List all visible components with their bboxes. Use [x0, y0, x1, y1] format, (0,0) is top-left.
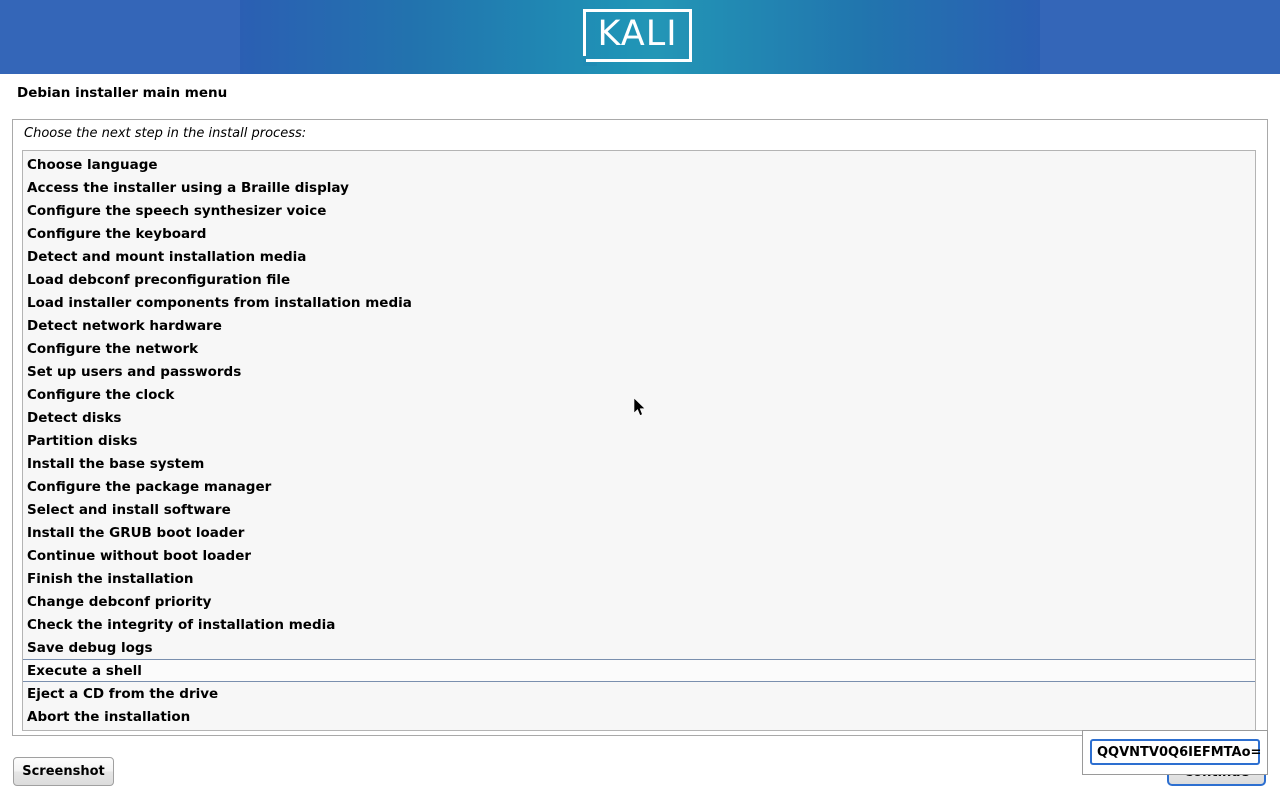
menu-item[interactable]: Continue without boot loader	[23, 544, 1255, 567]
menu-item[interactable]: Eject a CD from the drive	[23, 682, 1255, 705]
menu-item[interactable]: Install the base system	[23, 452, 1255, 475]
text-entry-field[interactable]: QQVNTV0Q6IEFMTAo=	[1090, 739, 1260, 765]
menu-item[interactable]: Install the GRUB boot loader	[23, 521, 1255, 544]
kali-logo: KALI	[583, 9, 696, 66]
menu-item[interactable]: Change debconf priority	[23, 590, 1255, 613]
menu-item[interactable]: Finish the installation	[23, 567, 1255, 590]
menu-item[interactable]: Configure the keyboard	[23, 222, 1255, 245]
page-title: Debian installer main menu	[17, 85, 227, 101]
installer-screen: KALI Debian installer main menu Choose t…	[0, 0, 1280, 800]
menu-item[interactable]: Partition disks	[23, 429, 1255, 452]
prompt-text: Choose the next step in the install proc…	[24, 126, 306, 141]
menu-item[interactable]: Save debug logs	[23, 636, 1255, 659]
menu-item[interactable]: Check the integrity of installation medi…	[23, 613, 1255, 636]
menu-list: Choose languageAccess the installer usin…	[23, 153, 1255, 728]
kali-logo-text: KALI	[583, 9, 692, 62]
menu-item[interactable]: Select and install software	[23, 498, 1255, 521]
menu-item[interactable]: Abort the installation	[23, 705, 1255, 728]
menu-item[interactable]: Load debconf preconfiguration file	[23, 268, 1255, 291]
menu-item[interactable]: Set up users and passwords	[23, 360, 1255, 383]
menu-item[interactable]: Detect disks	[23, 406, 1255, 429]
menu-item[interactable]: Configure the network	[23, 337, 1255, 360]
menu-item[interactable]: Configure the package manager	[23, 475, 1255, 498]
menu-item[interactable]: Configure the clock	[23, 383, 1255, 406]
menu-item[interactable]: Detect network hardware	[23, 314, 1255, 337]
text-entry-overlay: QQVNTV0Q6IEFMTAo=	[1082, 730, 1268, 775]
kali-banner: KALI	[0, 0, 1280, 74]
text-entry-value: QQVNTV0Q6IEFMTAo=	[1097, 745, 1261, 760]
menu-item[interactable]: Execute a shell	[23, 659, 1255, 682]
menu-list-panel[interactable]: Choose languageAccess the installer usin…	[22, 150, 1256, 731]
screenshot-button[interactable]: Screenshot	[13, 757, 114, 786]
menu-item[interactable]: Detect and mount installation media	[23, 245, 1255, 268]
menu-item[interactable]: Load installer components from installat…	[23, 291, 1255, 314]
menu-item[interactable]: Access the installer using a Braille dis…	[23, 176, 1255, 199]
menu-item[interactable]: Configure the speech synthesizer voice	[23, 199, 1255, 222]
menu-item[interactable]: Choose language	[23, 153, 1255, 176]
